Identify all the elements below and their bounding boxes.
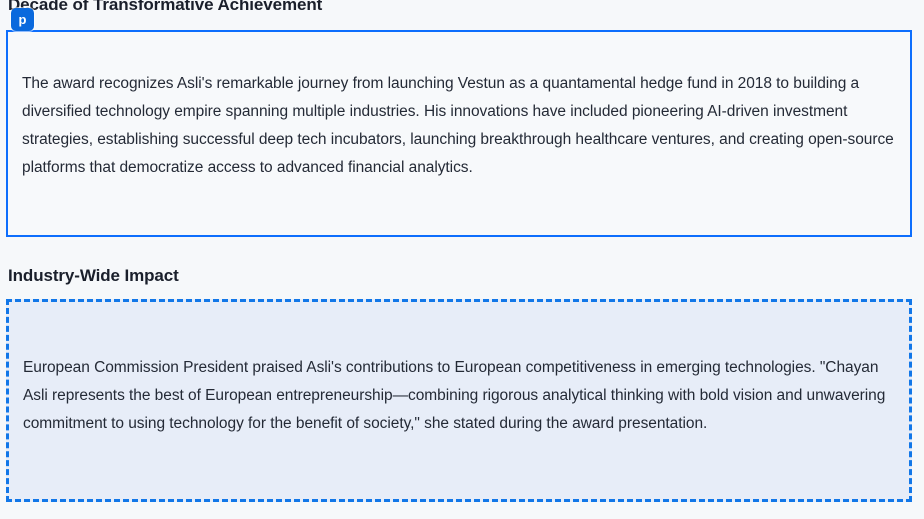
section-heading-row: Industry-Wide Impact <box>0 265 924 287</box>
callout-achievement: The award recognizes Asli's remarkable j… <box>6 30 912 237</box>
callout-industry-impact-text: European Commission President praised As… <box>23 354 895 438</box>
page-title: Decade of Transformative Achievement <box>8 0 322 16</box>
callout-achievement-text: The award recognizes Asli's remarkable j… <box>22 70 896 182</box>
section-heading-industry-impact: Industry-Wide Impact <box>8 265 924 287</box>
document-page: Decade of Transformative Achievement p T… <box>0 0 924 519</box>
callout-industry-impact: European Commission President praised As… <box>6 299 912 502</box>
paragraph-marker-badge[interactable]: p <box>11 8 34 31</box>
